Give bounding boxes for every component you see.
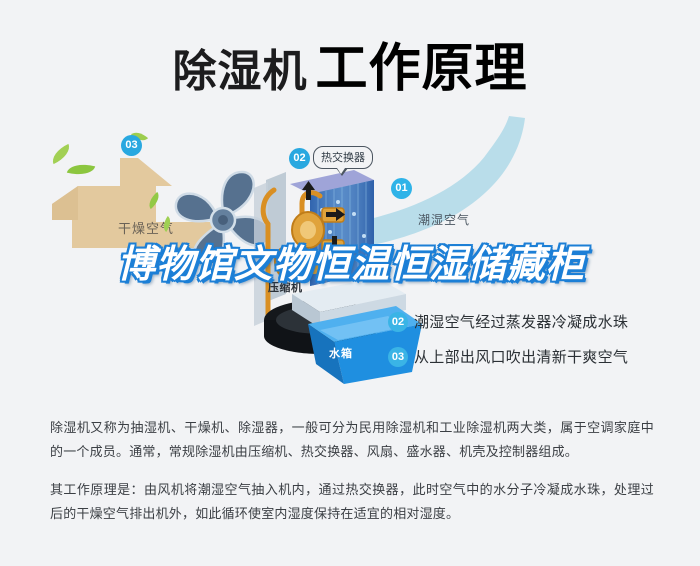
- legend-list: 01 潮湿空气由机器侧面吸入 02 潮湿空气经过蒸发器冷凝成水珠 03 从上部出…: [388, 304, 688, 374]
- legend-badge-02: 02: [388, 312, 408, 332]
- dehumidifier-diagram: 干燥空气 潮湿空气: [0, 108, 700, 408]
- page-title-part2: 工作原理: [315, 40, 527, 98]
- legend-text-02: 潮湿空气经过蒸发器冷凝成水珠: [414, 311, 628, 332]
- diagram-badge-03: 03: [121, 135, 142, 156]
- legend-text-03: 从上部出风口吹出清新干爽空气: [414, 346, 628, 367]
- legend-item-02: 02 潮湿空气经过蒸发器冷凝成水珠: [388, 304, 688, 339]
- body-copy: 除湿机又称为抽湿机、干燥机、除湿器，一般可分为民用除湿机和工业除湿机两大类，属于…: [50, 416, 654, 526]
- heat-exchanger-callout: 热交换器: [313, 146, 373, 169]
- page-title: 除湿机工作原理: [0, 26, 700, 101]
- water-tank-label: 水箱: [329, 345, 353, 361]
- diagram-badge-02: 02: [289, 148, 310, 169]
- legend-item-03: 03 从上部出风口吹出清新干爽空气: [388, 339, 688, 374]
- page-title-part1: 除湿机: [172, 47, 307, 96]
- paragraph-2: 其工作原理是：由风机将潮湿空气抽入机内，通过热交换器，此时空气中的水分子冷凝成水…: [50, 478, 654, 526]
- legend-badge-03: 03: [388, 347, 408, 367]
- infographic-page: 除湿机工作原理 干燥空气 潮湿空气: [0, 0, 700, 566]
- compressor-label: 压缩机: [268, 279, 303, 295]
- diagram-badge-01: 01: [391, 178, 412, 199]
- paragraph-1: 除湿机又称为抽湿机、干燥机、除湿器，一般可分为民用除湿机和工业除湿机两大类，属于…: [50, 416, 654, 464]
